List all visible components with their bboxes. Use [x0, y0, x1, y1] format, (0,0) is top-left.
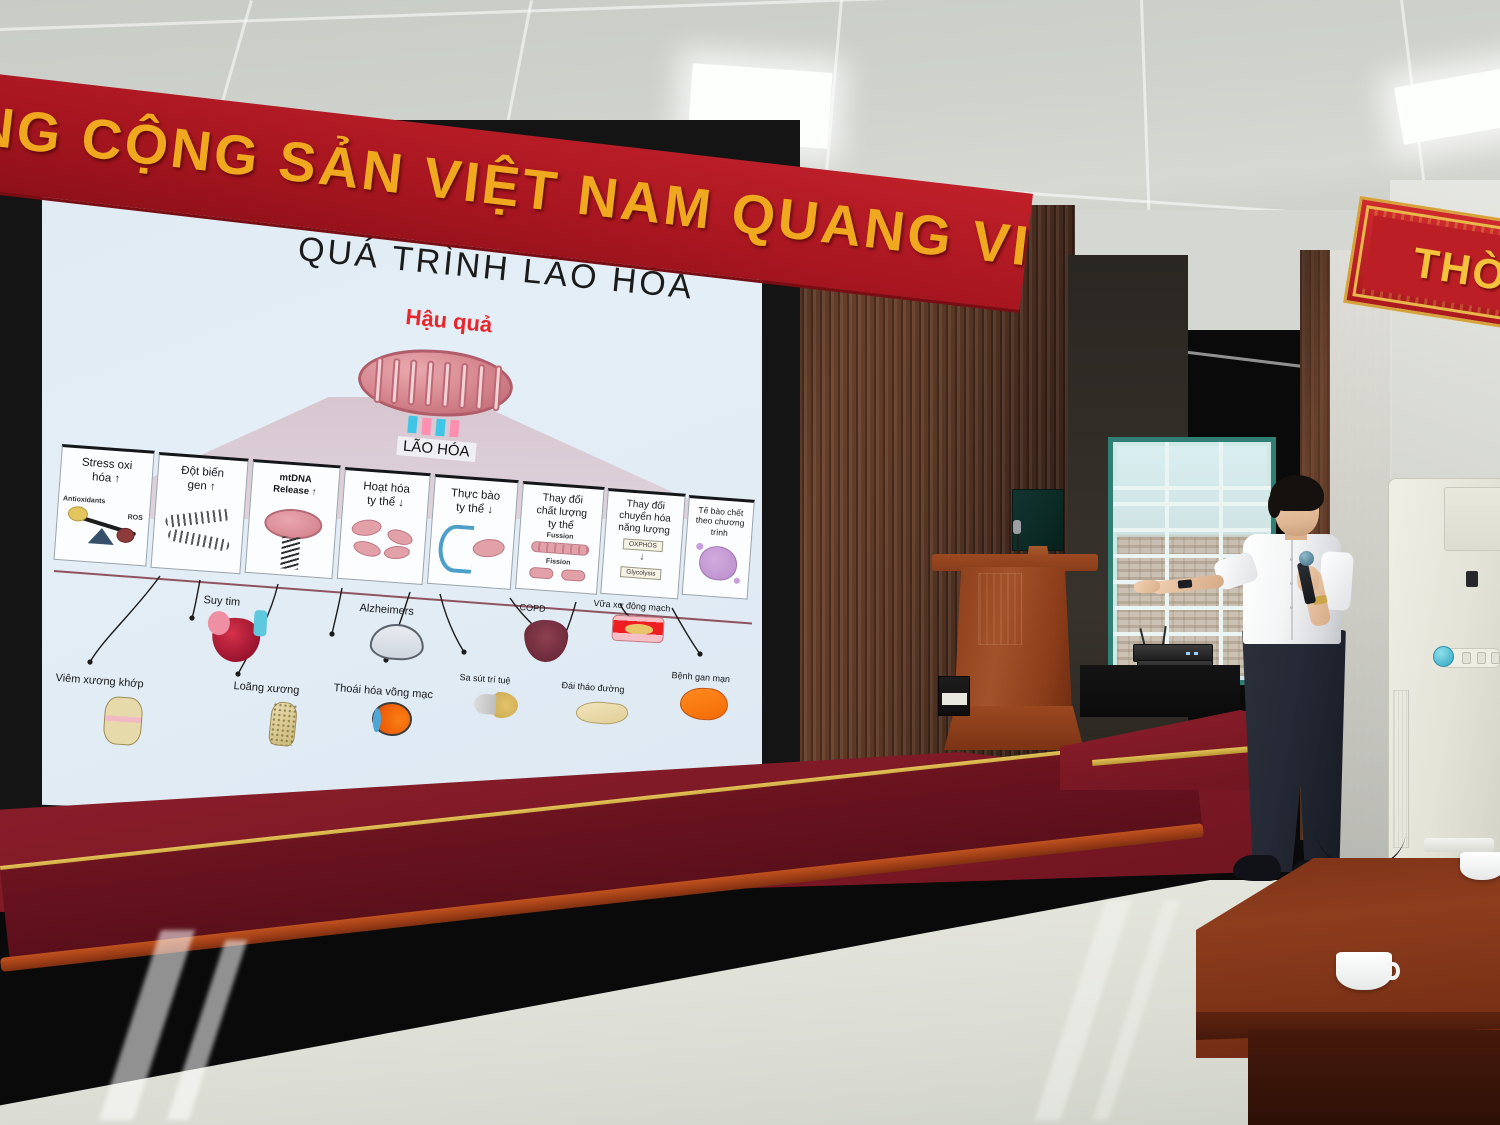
presenter-shoe-left: [1233, 855, 1281, 881]
av-table: [1080, 665, 1240, 717]
presenter-hair-side: [1268, 492, 1281, 518]
table-base: [1248, 1030, 1500, 1125]
mechanism-label-1: Stress oxi hóa ↑: [60, 454, 153, 489]
ac-vent: [1444, 487, 1500, 551]
mechanism-label-5: Thực bào ty thể ↓: [433, 485, 517, 519]
presenter-clicker: [1178, 579, 1193, 588]
white-teacup[interactable]: [1336, 952, 1392, 990]
aging-chip-3: [435, 419, 445, 437]
mechanism-label-3: mtDNA Release ↑: [251, 470, 338, 499]
artery-plaque-icon: [611, 615, 664, 644]
joint-icon: [102, 696, 143, 747]
aging-chip-1: [407, 416, 417, 434]
white-teacup-far[interactable]: [1460, 852, 1500, 880]
aging-chip-2: [421, 418, 431, 436]
mechanism-label-2: Đột biến gen ↑: [157, 462, 247, 496]
mechanism-label-6: Thay đổi chất lượng ty thể: [521, 490, 604, 534]
bone-icon: [268, 701, 298, 747]
podium-microphone: [1013, 520, 1021, 534]
mechanism-label-4: Hoạt hóa ty thể ↓: [343, 478, 429, 512]
aging-chip-4: [449, 420, 459, 438]
mechanism-label-7: Thay đổi chuyển hóa năng lượng: [606, 497, 684, 539]
ac-display: [1466, 571, 1478, 587]
saucer-tray: [1424, 838, 1494, 852]
microphone-head: [1299, 551, 1314, 566]
consequence-label: Hậu quả: [404, 304, 493, 338]
podium-body: [954, 567, 1072, 712]
mechanism-label-8: Tế bào chết theo chương trình: [687, 504, 753, 540]
equipment-case: [938, 676, 970, 716]
mechanism-sublabel-ros: ROS: [127, 514, 143, 522]
ac-power-knob[interactable]: [1433, 646, 1454, 667]
mechanism-box-1: Stress oxi hóa ↑ Antioxidants ROS: [54, 444, 155, 566]
disease-label-7: COPD: [519, 602, 546, 614]
conference-room-photo: QUÁ TRÌNH LÃO HÓA Hậu quả LÃO HÓA: [0, 0, 1500, 1125]
disease-label-2: Suy tim: [203, 594, 240, 609]
teacup-handle: [1386, 962, 1400, 980]
